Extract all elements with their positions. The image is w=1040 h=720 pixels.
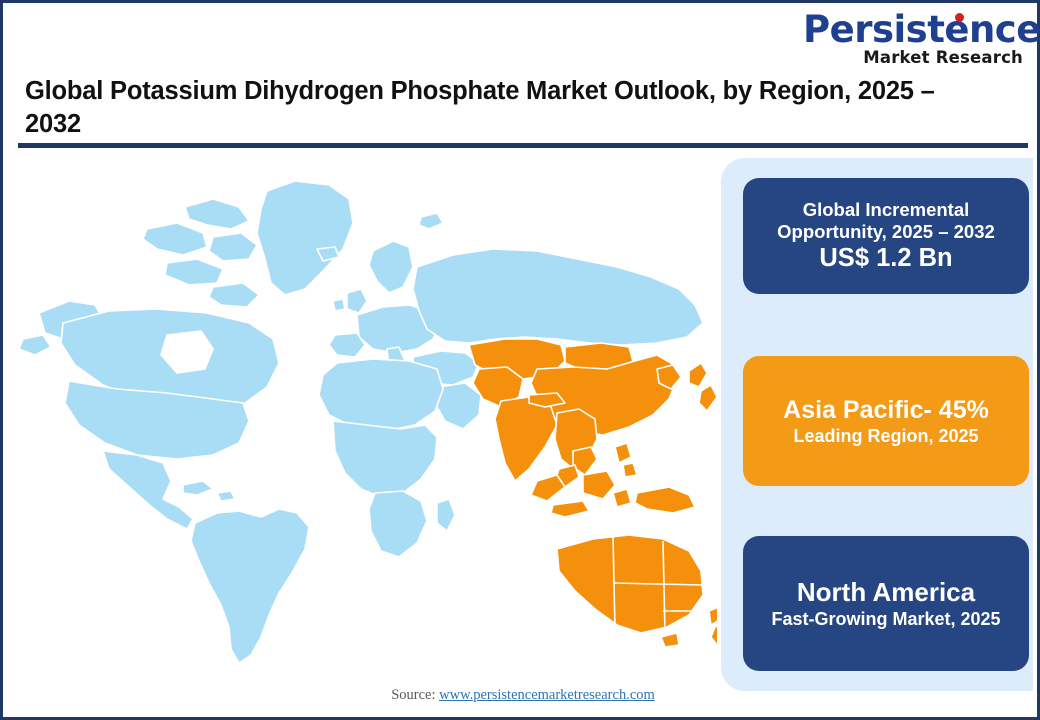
- source-prefix: Source:: [391, 687, 439, 703]
- stat-value-incremental-opportunity: US$ 1.2 Bn: [819, 243, 952, 273]
- source-link[interactable]: www.persistencemarketresearch.com: [439, 687, 655, 703]
- stat-value-fast-growing-market: North America: [797, 577, 975, 608]
- stat-value-leading-region: Asia Pacific- 45%: [783, 396, 989, 426]
- map-region-asia-pacific: [469, 339, 717, 647]
- stat-card-leading-region[interactable]: Asia Pacific- 45% Leading Region, 2025: [743, 356, 1029, 486]
- brand-logo: Persistence Market Research: [803, 11, 1023, 69]
- stat-card-fast-growing-market[interactable]: North America Fast-Growing Market, 2025: [743, 536, 1029, 671]
- logo-tagline: Market Research: [803, 50, 1023, 67]
- stat-card-incremental-opportunity[interactable]: Global Incremental Opportunity, 2025 – 2…: [743, 178, 1029, 294]
- infographic-frame: Persistence Market Research Global Potas…: [0, 0, 1040, 720]
- stat-label-leading-region: Leading Region, 2025: [793, 426, 978, 447]
- source-line: Source: www.persistencemarketresearch.co…: [3, 687, 1040, 704]
- stat-label-line1: Global Incremental: [803, 199, 970, 221]
- world-map: [17, 163, 717, 673]
- page-title: Global Potassium Dihydrogen Phosphate Ma…: [25, 75, 955, 140]
- title-divider: [18, 143, 1028, 148]
- stat-label-fast-growing-market: Fast-Growing Market, 2025: [771, 609, 1000, 630]
- logo-wordmark: Persistence: [803, 11, 1023, 48]
- logo-dot-icon: [955, 13, 964, 22]
- stat-label-line2: Opportunity, 2025 – 2032: [777, 221, 995, 243]
- stats-panel: Global Incremental Opportunity, 2025 – 2…: [721, 158, 1033, 691]
